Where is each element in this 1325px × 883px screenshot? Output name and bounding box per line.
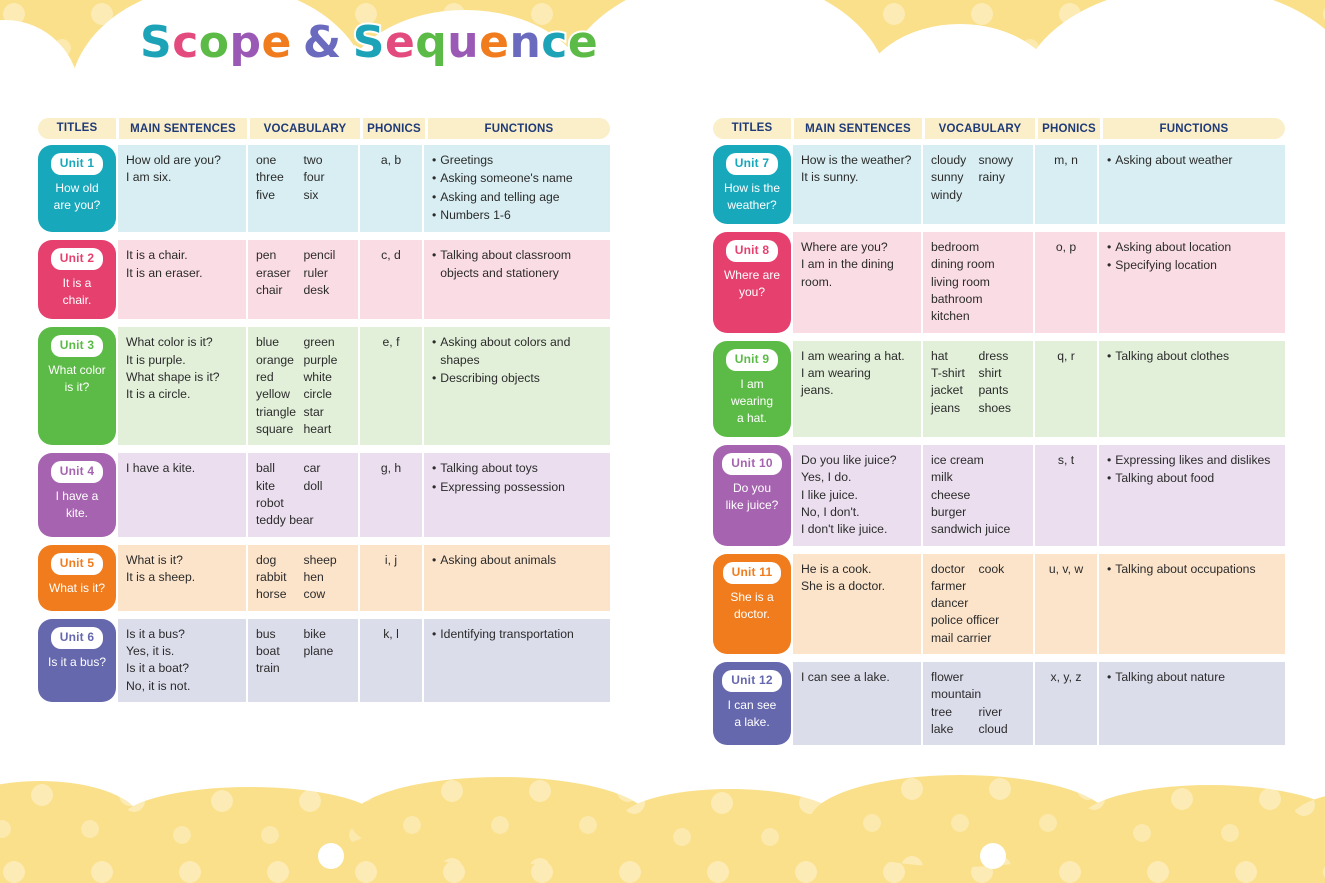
unit-subtitle: What coloris it?	[48, 362, 105, 396]
column-header-vocabulary: VOCABULARY	[250, 118, 360, 139]
sentence-line: Yes, it is.	[126, 643, 239, 660]
phonics-cell: a, b	[360, 145, 422, 232]
bullet-icon: •	[1107, 470, 1111, 487]
vocabulary-column: twofoursix	[304, 152, 352, 204]
unit-title-cell[interactable]: Unit 6Is it a bus?	[38, 619, 116, 702]
vocabulary-word: chair	[256, 282, 304, 299]
vocabulary-word: dancer	[931, 595, 979, 612]
sentence-line: Is it a bus?	[126, 626, 239, 643]
function-text: Talking about clothes	[1115, 348, 1278, 365]
sentence-line: No, it is not.	[126, 678, 239, 695]
unit-row[interactable]: Unit 1How oldare you?How old are you?I a…	[38, 145, 610, 232]
functions-cell: •Talking about classroom objects and sta…	[424, 240, 610, 319]
vocabulary-word: star	[304, 404, 352, 421]
page-title: Scope & Sequence	[140, 17, 598, 68]
vocabulary-word: shoes	[979, 400, 1027, 417]
column-header-functions: FUNCTIONS	[428, 118, 610, 139]
vocabulary-word: two	[304, 152, 352, 169]
vocabulary-word: red	[256, 369, 304, 386]
main-sentences-cell: Do you like juice?Yes, I do.I like juice…	[793, 445, 921, 546]
phonics-cell: c, d	[360, 240, 422, 319]
unit-row[interactable]: Unit 3What coloris it?What color is it?I…	[38, 327, 610, 445]
table-header-row: TITLESMAIN SENTENCESVOCABULARYPHONICSFUN…	[38, 118, 610, 139]
vocabulary-word: cloudy	[931, 152, 979, 169]
vocabulary-cell: ballkiterobotteddy bearcardoll	[248, 453, 358, 536]
main-sentences-cell: Is it a bus?Yes, it is.Is it a boat?No, …	[118, 619, 246, 702]
vocabulary-word: orange	[256, 352, 304, 369]
main-sentences-cell: I have a kite.	[118, 453, 246, 536]
vocabulary-word: yellow	[256, 386, 304, 403]
function-item: •Expressing possession	[432, 479, 603, 496]
vocabulary-word: cook	[979, 561, 1027, 578]
functions-cell: •Talking about clothes	[1099, 341, 1285, 437]
function-text: Identifying transportation	[440, 626, 603, 643]
functions-cell: •Asking about animals	[424, 545, 610, 611]
function-text: Talking about food	[1115, 470, 1278, 487]
unit-subtitle: How is theweather?	[724, 180, 780, 214]
functions-cell: •Expressing likes and dislikes•Talking a…	[1099, 445, 1285, 546]
sentence-line: room.	[801, 274, 914, 291]
column-header-vocabulary: VOCABULARY	[925, 118, 1035, 139]
vocabulary-word: ball	[256, 460, 304, 477]
unit-badge: Unit 3	[51, 335, 104, 357]
sentence-line: jeans.	[801, 382, 914, 399]
function-item: •Asking about weather	[1107, 152, 1278, 169]
vocabulary-word: windy	[931, 187, 979, 204]
function-item: •Identifying transportation	[432, 626, 603, 643]
sentence-line: I can see a lake.	[801, 669, 914, 686]
bullet-icon: •	[432, 552, 436, 569]
main-sentences-cell: It is a chair.It is an eraser.	[118, 240, 246, 319]
vocabulary-word: bus	[256, 626, 304, 643]
function-item: •Talking about toys	[432, 460, 603, 477]
vocabulary-word: desk	[304, 282, 352, 299]
vocabulary-word: hen	[304, 569, 352, 586]
unit-subtitle: What is it?	[49, 580, 105, 597]
vocabulary-word	[979, 686, 1027, 703]
sentence-line: I am six.	[126, 169, 239, 186]
vocabulary-word: eraser	[256, 265, 304, 282]
phonics-cell: e, f	[360, 327, 422, 445]
unit-row[interactable]: Unit 10Do youlike juice?Do you like juic…	[713, 445, 1285, 546]
unit-title-cell[interactable]: Unit 4I have akite.	[38, 453, 116, 536]
vocabulary-word: ice cream	[931, 452, 1026, 469]
vocabulary-word: train	[256, 660, 304, 677]
unit-subtitle: I have akite.	[56, 488, 99, 522]
vocabulary-word: pants	[979, 382, 1027, 399]
vocabulary-cell: flowermountaintreelake rivercloud	[923, 662, 1033, 745]
phonics-cell: o, p	[1035, 232, 1097, 333]
sentence-line: I am in the dining	[801, 256, 914, 273]
bullet-icon: •	[432, 479, 436, 496]
sentence-line: Yes, I do.	[801, 469, 914, 486]
vocabulary-column: sheephencow	[304, 552, 352, 604]
vocabulary-column: onethreefive	[256, 152, 304, 204]
bullet-icon: •	[1107, 257, 1111, 274]
vocabulary-column: greenpurplewhitecirclestarheart	[304, 334, 352, 438]
functions-cell: •Talking about nature	[1099, 662, 1285, 745]
sentence-line: I don't like juice.	[801, 521, 914, 538]
unit-title-cell[interactable]: Unit 12I can seea lake.	[713, 662, 791, 745]
vocabulary-column: blueorangeredyellowtrianglesquare	[256, 334, 304, 438]
function-item: •Talking about nature	[1107, 669, 1278, 686]
unit-title-cell[interactable]: Unit 5What is it?	[38, 545, 116, 611]
vocabulary-word: cow	[304, 586, 352, 603]
function-item: •Talking about food	[1107, 470, 1278, 487]
vocabulary-word: green	[304, 334, 352, 351]
vocabulary-word: dress	[979, 348, 1027, 365]
vocabulary-word: living room	[931, 274, 1026, 291]
vocabulary-column: busboattrain	[256, 626, 304, 678]
sentence-line: Do you like juice?	[801, 452, 914, 469]
vocabulary-word: five	[256, 187, 304, 204]
functions-cell: •Asking about location•Specifying locati…	[1099, 232, 1285, 333]
unit-row[interactable]: Unit 2It is achair.It is a chair.It is a…	[38, 240, 610, 319]
vocabulary-cell: dograbbithorsesheephencow	[248, 545, 358, 611]
unit-title-cell[interactable]: Unit 2It is achair.	[38, 240, 116, 319]
sentence-line: I have a kite.	[126, 460, 239, 477]
unit-row[interactable]: Unit 12I can seea lake.I can see a lake.…	[713, 662, 1285, 745]
unit-row[interactable]: Unit 11She is adoctor.He is a cook.She i…	[713, 554, 1285, 655]
unit-title-cell[interactable]: Unit 3What coloris it?	[38, 327, 116, 445]
functions-cell: •Talking about toys•Expressing possessio…	[424, 453, 610, 536]
vocabulary-column: flowermountaintreelake	[931, 669, 979, 738]
vocabulary-word: circle	[304, 386, 352, 403]
table-header-row: TITLESMAIN SENTENCESVOCABULARYPHONICSFUN…	[713, 118, 1285, 139]
function-text: Expressing likes and dislikes	[1115, 452, 1278, 469]
sentence-line: How old are you?	[126, 152, 239, 169]
vocabulary-column: snowyrainy	[979, 152, 1027, 204]
function-text: Talking about nature	[1115, 669, 1278, 686]
vocabulary-cell: busboattrainbikeplane	[248, 619, 358, 702]
unit-badge: Unit 7	[726, 153, 779, 175]
sentence-line: No, I don't.	[801, 504, 914, 521]
column-header-phonics: PHONICS	[363, 118, 425, 139]
unit-subtitle: It is achair.	[63, 275, 92, 309]
vocabulary-column: cardoll	[304, 460, 352, 529]
vocabulary-word: T-shirt	[931, 365, 979, 382]
vocabulary-word: river	[979, 704, 1027, 721]
vocabulary-word: flower	[931, 669, 979, 686]
function-text: Expressing possession	[440, 479, 603, 496]
vocabulary-word: kitchen	[931, 308, 1026, 325]
functions-cell: •Asking about weather	[1099, 145, 1285, 224]
vocabulary-word: cheese	[931, 487, 1026, 504]
vocabulary-word: rainy	[979, 169, 1027, 186]
function-text: Describing objects	[440, 370, 603, 387]
sentence-line: I am wearing	[801, 365, 914, 382]
vocabulary-word: farmer	[931, 578, 979, 595]
vocabulary-word: police officer	[931, 612, 979, 629]
vocabulary-column: hatT-shirtjacketjeans	[931, 348, 979, 417]
vocabulary-word: sheep	[304, 552, 352, 569]
vocabulary-cell: ice creammilkcheeseburgersandwich juice	[923, 445, 1033, 546]
unit-badge: Unit 8	[726, 240, 779, 262]
vocabulary-word: purple	[304, 352, 352, 369]
function-text: Talking about toys	[440, 460, 603, 477]
unit-badge: Unit 4	[51, 461, 104, 483]
vocabulary-word: dining room	[931, 256, 1026, 273]
page-number-right	[980, 843, 1006, 869]
function-item: •Talking about occupations	[1107, 561, 1278, 578]
vocabulary-cell: doctorfarmerdancerpolice officermail car…	[923, 554, 1033, 655]
vocabulary-word: plane	[304, 643, 352, 660]
vocabulary-word: blue	[256, 334, 304, 351]
vocabulary-word: bathroom	[931, 291, 1026, 308]
vocabulary-word: burger	[931, 504, 1026, 521]
vocabulary-column: dograbbithorse	[256, 552, 304, 604]
functions-cell: •Talking about occupations	[1099, 554, 1285, 655]
vocabulary-word: bike	[304, 626, 352, 643]
unit-row[interactable]: Unit 6Is it a bus?Is it a bus?Yes, it is…	[38, 619, 610, 702]
bullet-icon: •	[432, 334, 436, 369]
bullet-icon: •	[1107, 239, 1111, 256]
vocabulary-column: ice creammilkcheeseburgersandwich juice	[931, 452, 1026, 539]
vocabulary-column: cloudysunnywindy	[931, 152, 979, 204]
function-text: Asking about animals	[440, 552, 603, 569]
main-sentences-cell: Where are you?I am in the diningroom.	[793, 232, 921, 333]
vocabulary-cell: onethreefivetwofoursix	[248, 145, 358, 232]
vocabulary-word: doctor	[931, 561, 979, 578]
function-item: •Expressing likes and dislikes	[1107, 452, 1278, 469]
sentence-line: It is an eraser.	[126, 265, 239, 282]
bullet-icon: •	[432, 460, 436, 477]
unit-title-cell[interactable]: Unit 9I amwearinga hat.	[713, 341, 791, 437]
sentence-line: I like juice.	[801, 487, 914, 504]
vocabulary-word: white	[304, 369, 352, 386]
sentence-line: Where are you?	[801, 239, 914, 256]
vocabulary-word: six	[304, 187, 352, 204]
sentence-line: What is it?	[126, 552, 239, 569]
phonics-cell: k, l	[360, 619, 422, 702]
function-item: •Describing objects	[432, 370, 603, 387]
bullet-icon: •	[432, 170, 436, 187]
main-sentences-cell: What color is it?It is purple.What shape…	[118, 327, 246, 445]
function-item: •Numbers 1-6	[432, 207, 603, 224]
unit-badge: Unit 11	[723, 562, 782, 584]
sentence-line: What shape is it?	[126, 369, 239, 386]
functions-cell: •Asking about colors and shapes•Describi…	[424, 327, 610, 445]
sentence-line: Is it a boat?	[126, 660, 239, 677]
vocabulary-word: snowy	[979, 152, 1027, 169]
vocabulary-word: heart	[304, 421, 352, 438]
vocabulary-word: doll	[304, 478, 352, 495]
function-text: Numbers 1-6	[440, 207, 603, 224]
vocabulary-word: jeans	[931, 400, 979, 417]
unit-title-cell[interactable]: Unit 10Do youlike juice?	[713, 445, 791, 546]
vocabulary-word: sunny	[931, 169, 979, 186]
vocabulary-word	[979, 669, 1027, 686]
vocabulary-word: cloud	[979, 721, 1027, 738]
bullet-icon: •	[432, 207, 436, 224]
unit-badge: Unit 1	[51, 153, 104, 175]
function-text: Asking someone's name	[440, 170, 603, 187]
unit-subtitle: I amwearinga hat.	[731, 376, 773, 427]
sentence-line: It is purple.	[126, 352, 239, 369]
column-header-titles: TITLES	[38, 118, 116, 139]
main-sentences-cell: What is it?It is a sheep.	[118, 545, 246, 611]
bullet-icon: •	[432, 370, 436, 387]
unit-badge: Unit 5	[51, 553, 104, 575]
vocabulary-word: pencil	[304, 247, 352, 264]
function-item: •Asking someone's name	[432, 170, 603, 187]
function-text: Talking about classroom objects and stat…	[440, 247, 603, 282]
vocabulary-word: one	[256, 152, 304, 169]
vocabulary-word: car	[304, 460, 352, 477]
unit-subtitle: She is adoctor.	[730, 589, 773, 623]
function-item: •Talking about clothes	[1107, 348, 1278, 365]
vocabulary-cell: blueorangeredyellowtrianglesquaregreenpu…	[248, 327, 358, 445]
main-sentences-cell: He is a cook.She is a doctor.	[793, 554, 921, 655]
sentence-line: It is sunny.	[801, 169, 914, 186]
phonics-cell: u, v, w	[1035, 554, 1097, 655]
vocabulary-cell: bedroomdining roomliving roombathroomkit…	[923, 232, 1033, 333]
vocabulary-cell: hatT-shirtjacketjeansdressshirtpantsshoe…	[923, 341, 1033, 437]
unit-subtitle: How oldare you?	[54, 180, 101, 214]
main-sentences-cell: How is the weather?It is sunny.	[793, 145, 921, 224]
column-header-phonics: PHONICS	[1038, 118, 1100, 139]
sentence-line: It is a circle.	[126, 386, 239, 403]
vocabulary-column: cook	[979, 561, 1027, 648]
sentence-line: It is a sheep.	[126, 569, 239, 586]
bullet-icon: •	[1107, 348, 1111, 365]
sentence-line: It is a chair.	[126, 247, 239, 264]
column-header-functions: FUNCTIONS	[1103, 118, 1285, 139]
unit-badge: Unit 2	[51, 248, 104, 270]
vocabulary-column: doctorfarmerdancerpolice officermail car…	[931, 561, 979, 648]
bullet-icon: •	[432, 189, 436, 206]
vocabulary-column: pencilrulerdesk	[304, 247, 352, 299]
vocabulary-word: rabbit	[256, 569, 304, 586]
unit-badge: Unit 6	[51, 627, 104, 649]
sentence-line: I am wearing a hat.	[801, 348, 914, 365]
unit-badge: Unit 12	[722, 670, 781, 692]
function-item: •Talking about classroom objects and sta…	[432, 247, 603, 282]
main-sentences-cell: How old are you?I am six.	[118, 145, 246, 232]
bullet-icon: •	[432, 152, 436, 169]
bullet-icon: •	[432, 626, 436, 643]
column-header-main-sentences: MAIN SENTENCES	[119, 118, 247, 139]
unit-row[interactable]: Unit 5What is it?What is it?It is a shee…	[38, 545, 610, 611]
sentence-line: What color is it?	[126, 334, 239, 351]
unit-badge: Unit 10	[722, 453, 781, 475]
sentence-line: How is the weather?	[801, 152, 914, 169]
vocabulary-word: shirt	[979, 365, 1027, 382]
phonics-cell: g, h	[360, 453, 422, 536]
vocabulary-word: sandwich juice	[931, 521, 1026, 538]
vocabulary-column: rivercloud	[979, 669, 1027, 738]
unit-title-cell[interactable]: Unit 11She is adoctor.	[713, 554, 791, 655]
vocabulary-word: robot	[256, 495, 304, 512]
main-sentences-cell: I can see a lake.	[793, 662, 921, 745]
vocabulary-word: horse	[256, 586, 304, 603]
unit-title-cell[interactable]: Unit 1How oldare you?	[38, 145, 116, 232]
unit-subtitle: Is it a bus?	[48, 654, 106, 671]
function-item: •Asking about animals	[432, 552, 603, 569]
unit-row[interactable]: Unit 7How is theweather?How is the weath…	[713, 145, 1285, 224]
vocabulary-word: hat	[931, 348, 979, 365]
vocabulary-word: milk	[931, 469, 1026, 486]
unit-subtitle: Where areyou?	[724, 267, 780, 301]
phonics-cell: x, y, z	[1035, 662, 1097, 745]
vocabulary-column: dressshirtpantsshoes	[979, 348, 1027, 417]
vocabulary-word: triangle	[256, 404, 304, 421]
unit-row[interactable]: Unit 9I amwearinga hat.I am wearing a ha…	[713, 341, 1285, 437]
sentence-line: She is a doctor.	[801, 578, 914, 595]
vocabulary-word: four	[304, 169, 352, 186]
vocabulary-word: lake	[931, 721, 979, 738]
vocabulary-word: dog	[256, 552, 304, 569]
phonics-cell: s, t	[1035, 445, 1097, 546]
unit-title-cell[interactable]: Unit 7How is theweather?	[713, 145, 791, 224]
phonics-cell: q, r	[1035, 341, 1097, 437]
vocabulary-word: mountain	[931, 686, 979, 703]
function-text: Asking about weather	[1115, 152, 1278, 169]
vocabulary-word: jacket	[931, 382, 979, 399]
function-text: Asking and telling age	[440, 189, 603, 206]
function-text: Talking about occupations	[1115, 561, 1278, 578]
functions-cell: •Greetings•Asking someone's name•Asking …	[424, 145, 610, 232]
phonics-cell: i, j	[360, 545, 422, 611]
bullet-icon: •	[432, 247, 436, 282]
vocabulary-column: bedroomdining roomliving roombathroomkit…	[931, 239, 1026, 326]
function-text: Asking about colors and shapes	[440, 334, 603, 369]
page-right: TITLESMAIN SENTENCESVOCABULARYPHONICSFUN…	[713, 118, 1285, 753]
page-left: TITLESMAIN SENTENCESVOCABULARYPHONICSFUN…	[38, 118, 610, 710]
bullet-icon: •	[1107, 561, 1111, 578]
bullet-icon: •	[1107, 452, 1111, 469]
vocabulary-word: three	[256, 169, 304, 186]
function-text: Asking about location	[1115, 239, 1278, 256]
function-item: •Greetings	[432, 152, 603, 169]
sentence-line: He is a cook.	[801, 561, 914, 578]
vocabulary-column: ballkiterobotteddy bear	[256, 460, 304, 529]
vocabulary-word: square	[256, 421, 304, 438]
column-header-main-sentences: MAIN SENTENCES	[794, 118, 922, 139]
page-number-left	[318, 843, 344, 869]
unit-subtitle: I can seea lake.	[728, 697, 777, 731]
vocabulary-column: peneraserchair	[256, 247, 304, 299]
vocabulary-cell: cloudysunnywindysnowyrainy	[923, 145, 1033, 224]
unit-title-cell[interactable]: Unit 8Where areyou?	[713, 232, 791, 333]
scope-and-sequence-page: Scope & Sequence TITLESMAIN SENTENCESVOC…	[0, 0, 1325, 883]
vocabulary-column: bikeplane	[304, 626, 352, 678]
vocabulary-cell: peneraserchairpencilrulerdesk	[248, 240, 358, 319]
functions-cell: •Identifying transportation	[424, 619, 610, 702]
vocabulary-word: teddy bear	[256, 512, 304, 529]
function-item: •Asking about colors and shapes	[432, 334, 603, 369]
function-text: Specifying location	[1115, 257, 1278, 274]
phonics-cell: m, n	[1035, 145, 1097, 224]
vocabulary-word: bedroom	[931, 239, 1026, 256]
vocabulary-word: kite	[256, 478, 304, 495]
function-item: •Asking and telling age	[432, 189, 603, 206]
unit-row[interactable]: Unit 4I have akite.I have a kite.ballkit…	[38, 453, 610, 536]
vocabulary-word: boat	[256, 643, 304, 660]
unit-badge: Unit 9	[726, 349, 779, 371]
vocabulary-word: tree	[931, 704, 979, 721]
unit-row[interactable]: Unit 8Where areyou?Where are you?I am in…	[713, 232, 1285, 333]
vocabulary-word: mail carrier	[931, 630, 979, 647]
vocabulary-word: pen	[256, 247, 304, 264]
function-item: •Asking about location	[1107, 239, 1278, 256]
function-item: •Specifying location	[1107, 257, 1278, 274]
vocabulary-word: ruler	[304, 265, 352, 282]
bullet-icon: •	[1107, 669, 1111, 686]
bullet-icon: •	[1107, 152, 1111, 169]
column-header-titles: TITLES	[713, 118, 791, 139]
main-sentences-cell: I am wearing a hat.I am wearingjeans.	[793, 341, 921, 437]
